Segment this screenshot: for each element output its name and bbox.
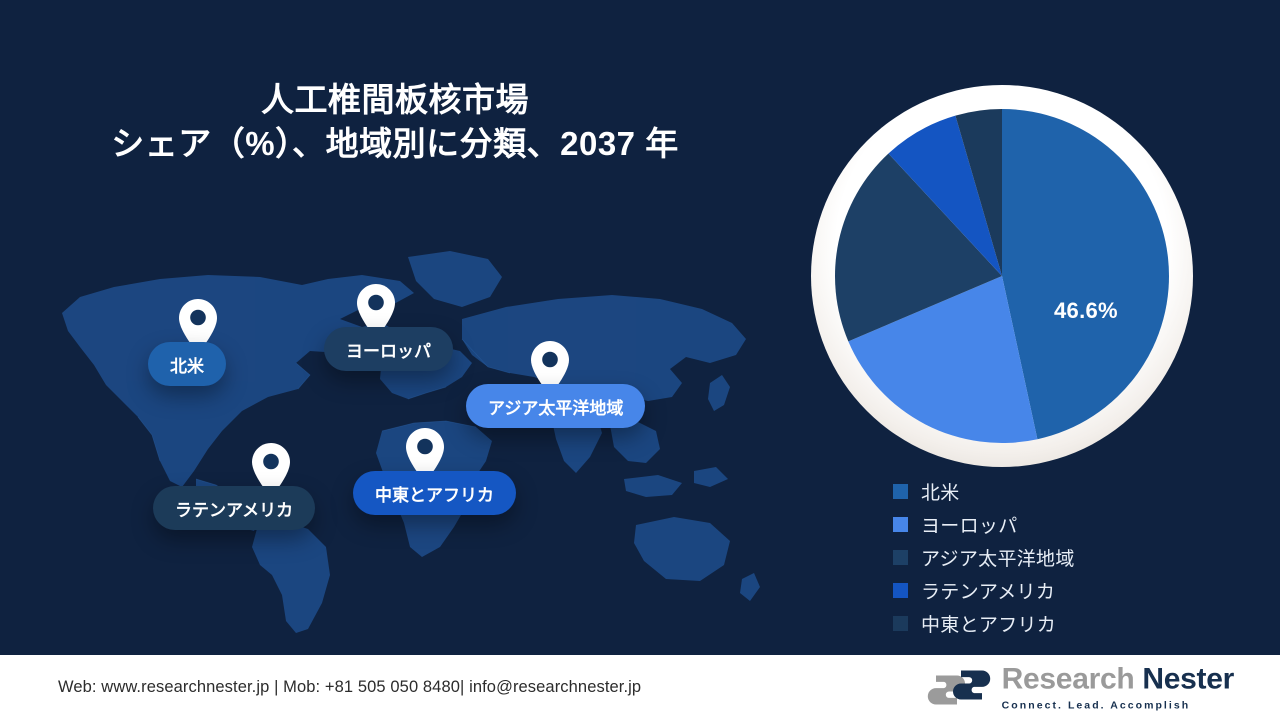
map-label-text: アジア太平洋地域 (488, 394, 623, 419)
map-label-north-america[interactable]: 北米 (148, 342, 226, 386)
logo-name: Research Nester (1002, 664, 1234, 694)
logo-word-research: Research (1002, 662, 1135, 695)
brand-logo[interactable]: Research Nester Connect. Lead. Accomplis… (927, 664, 1234, 711)
map-label-text: 北米 (170, 352, 204, 377)
legend-label: ラテンアメリカ (921, 577, 1055, 604)
legend-swatch (893, 616, 908, 631)
legend-swatch (893, 484, 908, 499)
legend-label: ヨーロッパ (921, 511, 1018, 538)
map-label-europe[interactable]: ヨーロッパ (324, 327, 453, 371)
map-marker-latin-america[interactable]: ラテンアメリカ (153, 486, 315, 530)
world-map (10, 235, 790, 635)
map-marker-north-america[interactable]: 北米 (148, 342, 226, 386)
legend-item-europe[interactable]: ヨーロッパ (893, 509, 1223, 540)
footer-bar: Web: www.researchnester.jp | Mob: +81 50… (0, 655, 1280, 720)
map-label-asia-pacific[interactable]: アジア太平洋地域 (466, 384, 645, 428)
map-label-mea[interactable]: 中東とアフリカ (353, 471, 516, 515)
logo-wordmark: Research Nester Connect. Lead. Accomplis… (1002, 664, 1234, 711)
logo-tagline: Connect. Lead. Accomplish (1002, 699, 1234, 711)
title-line-1: 人工椎間板核市場 (0, 78, 790, 122)
map-label-text: 中東とアフリカ (375, 481, 494, 506)
legend-item-north-america[interactable]: 北米 (893, 476, 1223, 507)
map-marker-mea[interactable]: 中東とアフリカ (353, 471, 516, 515)
slide-canvas: 人工椎間板核市場 シェア（%）、地域別に分類、2037 年 (0, 0, 1280, 720)
pie-chart: 46.6% (808, 82, 1196, 470)
chart-legend: 北米 ヨーロッパ アジア太平洋地域 ラテンアメリカ 中東とアフリカ (893, 476, 1223, 641)
legend-item-mea[interactable]: 中東とアフリカ (893, 608, 1223, 639)
legend-item-asia-pacific[interactable]: アジア太平洋地域 (893, 542, 1223, 573)
footer-contact-text: Web: www.researchnester.jp | Mob: +81 50… (58, 678, 641, 697)
legend-label: 中東とアフリカ (921, 610, 1056, 637)
legend-label: 北米 (921, 478, 960, 505)
map-marker-europe[interactable]: ヨーロッパ (324, 327, 453, 371)
legend-item-latin-america[interactable]: ラテンアメリカ (893, 575, 1223, 606)
logo-word-nester: Nester (1134, 662, 1234, 695)
legend-swatch (893, 517, 908, 532)
pie-slice-value-label: 46.6% (1054, 298, 1118, 324)
map-label-text: ヨーロッパ (346, 337, 431, 362)
page-title: 人工椎間板核市場 シェア（%）、地域別に分類、2037 年 (0, 78, 790, 166)
map-label-text: ラテンアメリカ (175, 496, 293, 521)
legend-swatch (893, 550, 908, 565)
title-line-2: シェア（%）、地域別に分類、2037 年 (0, 122, 790, 166)
map-marker-asia-pacific[interactable]: アジア太平洋地域 (466, 384, 645, 428)
chain-link-icon (927, 669, 991, 707)
legend-swatch (893, 583, 908, 598)
map-label-latin-america[interactable]: ラテンアメリカ (153, 486, 315, 530)
pie-slices (835, 109, 1169, 443)
legend-label: アジア太平洋地域 (921, 544, 1075, 571)
